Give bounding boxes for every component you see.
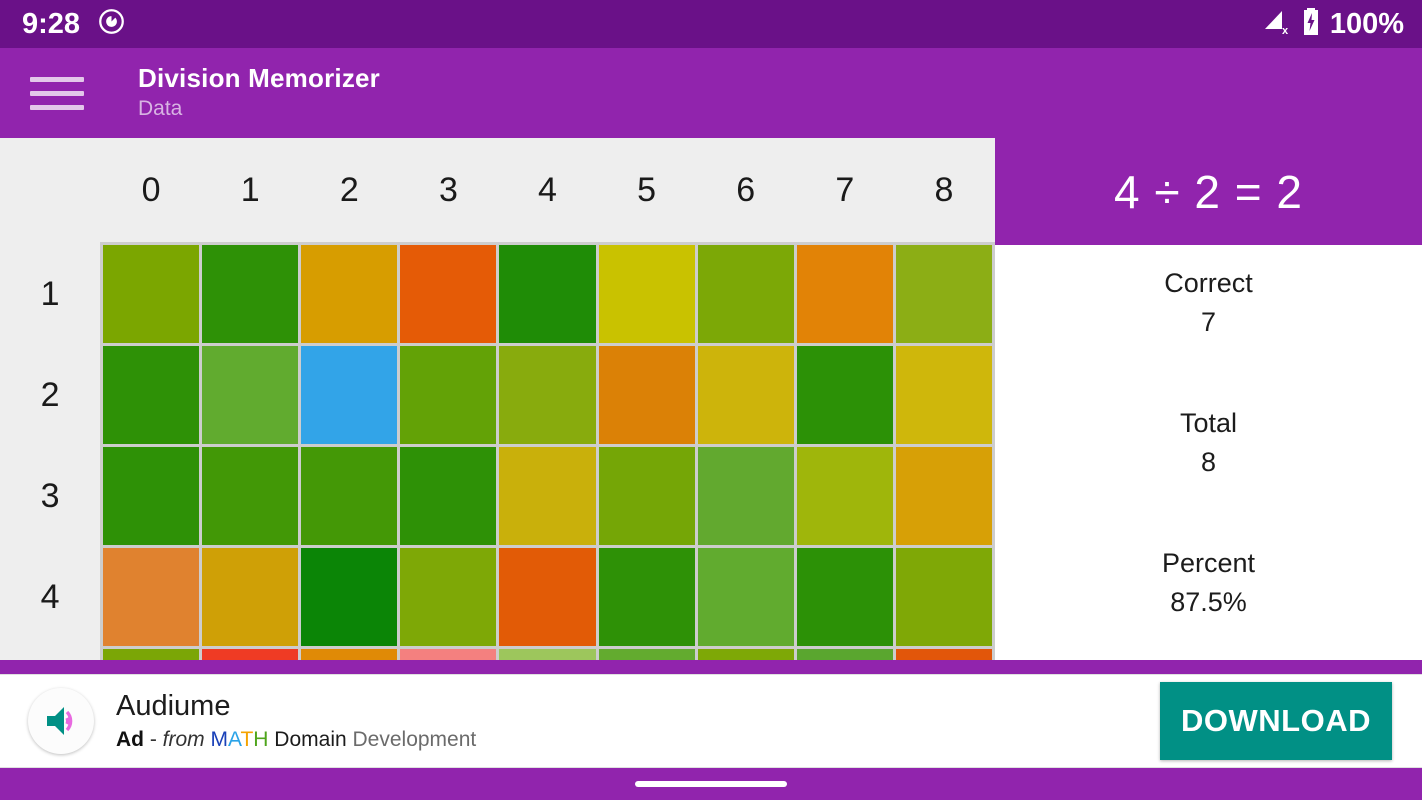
- grid-cell-r2-c3[interactable]: [399, 446, 498, 547]
- grid-cell-r1-c2[interactable]: [300, 345, 399, 446]
- ad-development-label: Development: [353, 728, 477, 751]
- grid-cell-r2-c1[interactable]: [201, 446, 300, 547]
- grid-row: 4: [0, 547, 994, 648]
- grid-corner-cell: [0, 138, 102, 244]
- ad-title: Audiume: [116, 688, 1160, 724]
- grid-row: 3: [0, 446, 994, 547]
- speaker-volume-icon: [28, 688, 94, 754]
- brand-letter-h: H: [253, 728, 268, 751]
- brand-letter-t: T: [240, 728, 253, 751]
- ad-domain-label: Domain: [268, 728, 352, 751]
- grid-cell-r2-c4[interactable]: [498, 446, 597, 547]
- grid-cell-r0-c6[interactable]: [696, 244, 795, 345]
- grid-cell-r0-c5[interactable]: [597, 244, 696, 345]
- screen-record-icon: [98, 8, 125, 40]
- grid-col-header-2: 2: [300, 138, 399, 244]
- current-problem-banner: 4 ÷ 2 = 2: [995, 138, 1422, 245]
- stat-value: 8: [1201, 444, 1216, 480]
- grid-row-header-2: 2: [0, 345, 102, 446]
- grid-cell-r4-c5[interactable]: [597, 648, 696, 661]
- ad-dash: -: [144, 728, 163, 751]
- grid-cell-r1-c1[interactable]: [201, 345, 300, 446]
- grid-col-header-7: 7: [795, 138, 894, 244]
- results-grid: 012345678 12345: [0, 138, 995, 660]
- status-clock: 9:28: [22, 10, 80, 39]
- grid-cell-r1-c0[interactable]: [102, 345, 201, 446]
- signal-no-sim-icon: x: [1262, 8, 1292, 41]
- ad-tag-label: Ad: [116, 728, 144, 751]
- download-button[interactable]: DOWNLOAD: [1160, 682, 1392, 760]
- grid-cell-r0-c4[interactable]: [498, 244, 597, 345]
- grid-cell-r2-c0[interactable]: [102, 446, 201, 547]
- stats-list: Correct 7 Total 8 Percent 87.5%: [995, 245, 1422, 660]
- grid-cell-r1-c5[interactable]: [597, 345, 696, 446]
- grid-cell-r3-c2[interactable]: [300, 547, 399, 648]
- grid-body: 12345: [0, 244, 994, 661]
- stat-value: 87.5%: [1170, 584, 1247, 620]
- ad-banner[interactable]: Audiume Ad - from MATH Domain Developmen…: [0, 674, 1422, 768]
- score-pane: 4 ÷ 2 = 2 Correct 7 Total 8 Percent 87.5…: [995, 138, 1422, 660]
- grid-cell-r4-c1[interactable]: [201, 648, 300, 661]
- grid-col-header-1: 1: [201, 138, 300, 244]
- grid-cell-r0-c2[interactable]: [300, 244, 399, 345]
- grid-row-header-4: 4: [0, 547, 102, 648]
- ad-from-label: from: [163, 728, 211, 751]
- grid-cell-r4-c7[interactable]: [795, 648, 894, 661]
- svg-text:x: x: [1282, 25, 1289, 36]
- grid-cell-r0-c1[interactable]: [201, 244, 300, 345]
- grid-header-row: 012345678: [0, 138, 994, 244]
- stat-label: Percent: [1162, 545, 1255, 581]
- stat-total: Total 8: [995, 405, 1422, 545]
- app-root: 9:28 x 100%: [0, 0, 1422, 800]
- grid-cell-r2-c5[interactable]: [597, 446, 696, 547]
- grid-cell-r4-c8[interactable]: [894, 648, 993, 661]
- grid-row: 2: [0, 345, 994, 446]
- stat-value: 7: [1201, 304, 1216, 340]
- grid-cell-r3-c7[interactable]: [795, 547, 894, 648]
- grid-cell-r2-c6[interactable]: [696, 446, 795, 547]
- grid-cell-r2-c2[interactable]: [300, 446, 399, 547]
- content-area: 012345678 12345 4 ÷ 2 = 2 Correct 7 Tota…: [0, 138, 1422, 660]
- grid-cell-r3-c0[interactable]: [102, 547, 201, 648]
- grid-col-header-6: 6: [696, 138, 795, 244]
- stat-label: Correct: [1164, 265, 1253, 301]
- grid-cell-r3-c6[interactable]: [696, 547, 795, 648]
- grid-cell-r1-c6[interactable]: [696, 345, 795, 446]
- status-bar: 9:28 x 100%: [0, 0, 1422, 48]
- ad-top-divider: [0, 660, 1422, 674]
- stat-label: Total: [1180, 405, 1237, 441]
- grid-cell-r1-c3[interactable]: [399, 345, 498, 446]
- grid-row-header-1: 1: [0, 244, 102, 345]
- grid-cell-r3-c5[interactable]: [597, 547, 696, 648]
- grid-row-header-3: 3: [0, 446, 102, 547]
- status-bar-left: 9:28: [22, 8, 1262, 40]
- grid-row: 1: [0, 244, 994, 345]
- grid-col-header-4: 4: [498, 138, 597, 244]
- status-bar-right: x 100%: [1262, 7, 1404, 42]
- grid-cell-r0-c8[interactable]: [894, 244, 993, 345]
- system-nav-bar: [0, 768, 1422, 800]
- grid-cell-r1-c4[interactable]: [498, 345, 597, 446]
- brand-letter-m: M: [211, 728, 229, 751]
- grid-cell-r0-c7[interactable]: [795, 244, 894, 345]
- grid-cell-r2-c7[interactable]: [795, 446, 894, 547]
- grid-cell-r3-c8[interactable]: [894, 547, 993, 648]
- grid-cell-r2-c8[interactable]: [894, 446, 993, 547]
- grid-cell-r1-c7[interactable]: [795, 345, 894, 446]
- grid-row: 5: [0, 648, 994, 661]
- hamburger-menu-icon[interactable]: [30, 77, 86, 110]
- app-bar-titles: Division Memorizer Data: [138, 63, 380, 122]
- ad-subtitle: Ad - from MATH Domain Development: [116, 726, 1160, 754]
- home-gesture-pill[interactable]: [635, 781, 787, 787]
- battery-charging-icon: [1301, 7, 1321, 42]
- hamburger-line: [30, 105, 84, 110]
- grid-cell-r3-c3[interactable]: [399, 547, 498, 648]
- grid-cell-r4-c2[interactable]: [300, 648, 399, 661]
- brand-letter-a: A: [228, 728, 240, 751]
- grid-cell-r4-c3[interactable]: [399, 648, 498, 661]
- grid-col-header-8: 8: [894, 138, 993, 244]
- stat-correct: Correct 7: [995, 265, 1422, 405]
- grid-cell-r3-c1[interactable]: [201, 547, 300, 648]
- grid-cell-r4-c4[interactable]: [498, 648, 597, 661]
- results-grid-pane[interactable]: 012345678 12345: [0, 138, 995, 660]
- current-problem-text: 4 ÷ 2 = 2: [1114, 169, 1303, 215]
- grid-col-header-5: 5: [597, 138, 696, 244]
- grid-cell-r4-c6[interactable]: [696, 648, 795, 661]
- grid-cell-r0-c3[interactable]: [399, 244, 498, 345]
- app-bar: Division Memorizer Data: [0, 48, 1422, 138]
- grid-cell-r4-c0[interactable]: [102, 648, 201, 661]
- grid-cell-r0-c0[interactable]: [102, 244, 201, 345]
- page-title: Division Memorizer: [138, 63, 380, 93]
- grid-col-header-3: 3: [399, 138, 498, 244]
- grid-col-header-0: 0: [102, 138, 201, 244]
- hamburger-line: [30, 91, 84, 96]
- ad-text-block: Audiume Ad - from MATH Domain Developmen…: [116, 688, 1160, 754]
- grid-row-header-5: 5: [0, 648, 102, 661]
- stat-percent: Percent 87.5%: [995, 545, 1422, 660]
- hamburger-line: [30, 77, 84, 82]
- battery-percent-label: 100%: [1330, 10, 1404, 39]
- grid-cell-r3-c4[interactable]: [498, 547, 597, 648]
- page-subtitle: Data: [138, 96, 380, 122]
- grid-cell-r1-c8[interactable]: [894, 345, 993, 446]
